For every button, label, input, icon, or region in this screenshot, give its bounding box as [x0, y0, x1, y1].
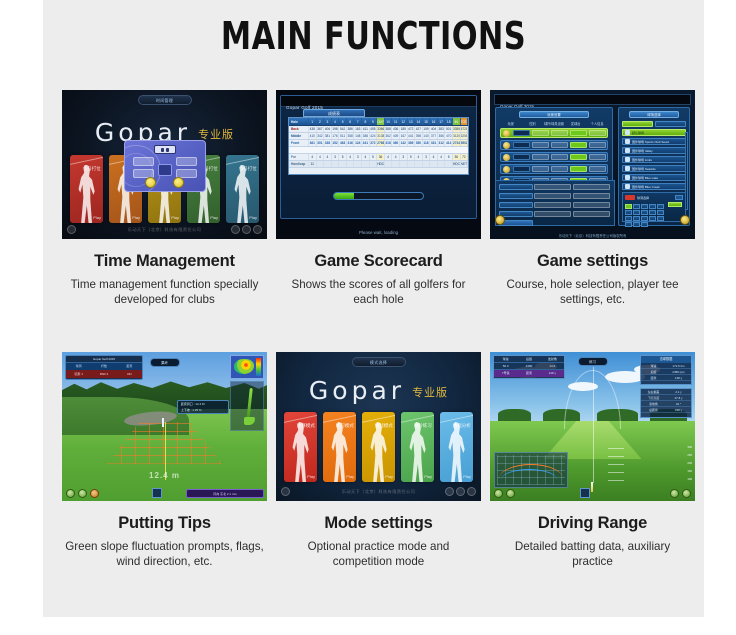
screenshot-game-scorecard: Gopar Golf 2015 成绩表 Hole 1 2 3 4 — [276, 90, 481, 239]
club-cell[interactable] — [551, 142, 568, 148]
td: 167 — [400, 133, 408, 139]
subtab-domestic[interactable] — [622, 121, 653, 127]
gender-cell[interactable] — [532, 166, 549, 172]
td: 331 — [430, 140, 438, 146]
td: 414 — [445, 140, 453, 146]
info-cell[interactable] — [589, 130, 606, 136]
course-tab[interactable]: 球场选择 — [629, 111, 679, 118]
td — [400, 161, 408, 167]
settings-button-icon[interactable] — [670, 489, 679, 498]
col-player: 玩家 — [500, 121, 522, 126]
view-button-icon[interactable] — [494, 489, 503, 498]
hole-selection-panel: 球洞选择 — [622, 192, 686, 222]
data-value: 2480 rpm — [666, 369, 691, 374]
th: 3 — [324, 118, 332, 125]
golfer-silhouette-icon — [446, 422, 468, 482]
data-value: 158 y — [666, 407, 691, 412]
th: 12 — [400, 118, 408, 125]
player-name-cell — [513, 166, 530, 172]
player-tab[interactable]: 玩家设置 — [519, 111, 589, 118]
exit-button-icon[interactable] — [682, 489, 691, 498]
club-cell[interactable] — [551, 166, 568, 172]
data-value: 2.1 y — [666, 389, 691, 394]
player-name-cell — [513, 142, 530, 148]
td: 4 — [438, 154, 446, 160]
option-label — [499, 211, 533, 217]
heatmap-blob — [234, 359, 254, 374]
table-row: Par 4 4 4 3 5 4 3 4 5 36 — [289, 154, 468, 161]
td: 542 — [339, 126, 347, 132]
hole-button-1[interactable] — [625, 204, 632, 209]
th: 17 — [438, 118, 446, 125]
course-subtabs — [622, 121, 686, 127]
next-button-icon[interactable] — [680, 215, 690, 225]
td-in: HDCP — [453, 161, 461, 167]
th-in: IN — [453, 118, 461, 125]
panel-label: 5号打位 — [241, 166, 257, 172]
td: 410 — [309, 133, 317, 139]
info-cell[interactable] — [589, 166, 606, 172]
data-label: 飞行高度 — [641, 395, 666, 400]
mode-panel-practice[interactable]: 练习模式 Play — [323, 412, 356, 482]
hole-button-6[interactable] — [625, 210, 632, 215]
course-thumb-icon — [625, 184, 630, 189]
function-card-mode-settings[interactable]: 模式选择 Gopar专业版 比赛模式 Play — [276, 352, 481, 614]
window-titlebar: Gopar Golf 2015 — [494, 94, 691, 105]
hole-button-17[interactable] — [633, 222, 640, 227]
course-list-item[interactable]: 国外球场 Blue Creek — [622, 183, 686, 190]
course-list-item[interactable]: 国外球场 Sports Club Seoul — [622, 138, 686, 145]
td — [392, 161, 400, 167]
td: 4 — [324, 154, 332, 160]
data-value: 42 ° — [666, 401, 691, 406]
mode-chip-label: 果岭 — [151, 359, 179, 368]
panel-streak — [226, 156, 259, 166]
loading-text: Please wait, loading — [276, 230, 481, 235]
td: 4 — [385, 154, 393, 160]
table-row: Front 361 301 338 152 463 316 124 341 37… — [289, 140, 468, 147]
dialog-confirm-button[interactable] — [158, 164, 172, 176]
td: 470 — [445, 133, 453, 139]
td: 318 — [385, 140, 393, 146]
option-row — [499, 192, 611, 199]
td: 377 — [430, 133, 438, 139]
td: 159 — [423, 126, 431, 132]
replay-button-icon[interactable] — [506, 489, 515, 498]
th: 11 — [392, 118, 400, 125]
td: 124 — [354, 140, 362, 146]
golfer-silhouette-icon — [290, 422, 312, 482]
option-value[interactable] — [534, 211, 571, 217]
functions-grid: 时间管理 Gopar专业版 1号打位 Play — [62, 90, 685, 614]
td-total: 5502 — [461, 140, 469, 146]
club-cell[interactable] — [551, 130, 568, 136]
table-row: Back 438 367 406 198 542 386 163 411 455 — [289, 126, 468, 133]
option-value[interactable] — [573, 211, 610, 217]
green-heatmap — [230, 355, 264, 379]
hole-button-9[interactable] — [649, 210, 656, 215]
card-title: Game settings — [490, 252, 695, 271]
player-row[interactable] — [500, 140, 608, 150]
td: 386 — [347, 126, 355, 132]
option-row — [499, 219, 611, 226]
course-thumb-icon — [625, 175, 630, 180]
function-card-game-scorecard[interactable]: Gopar Golf 2015 成绩表 Hole 1 2 3 4 — [276, 90, 481, 352]
status-bar: 风向 东北 2.1 m/s — [186, 489, 264, 498]
hud-label: 杆数 — [91, 363, 116, 370]
hud-labels-row: 球速 后旋 发射角 — [494, 356, 564, 363]
hole-button-7[interactable] — [633, 210, 640, 215]
hole-button-15[interactable] — [657, 216, 664, 221]
player-name-cell — [513, 130, 530, 136]
info-cell[interactable] — [589, 154, 606, 160]
function-card-time-management[interactable]: 时间管理 Gopar专业版 1号打位 Play — [62, 90, 267, 352]
tee-cell[interactable] — [570, 130, 587, 136]
hud-label: 后旋 — [517, 356, 540, 362]
ladder-label: 250 — [687, 453, 692, 457]
td: 140 — [423, 133, 431, 139]
hud-label: 距离 — [117, 363, 142, 370]
course-selection-panel: 球场选择 默认球场 国外球场 Sports Club Seoul 国外球场 Va… — [618, 107, 690, 226]
td: 441 — [408, 133, 416, 139]
dialog-avatar-left-icon — [145, 177, 156, 188]
club-preview — [230, 381, 264, 431]
dialog-col-right — [176, 157, 197, 178]
panel-label: 挑战模式 — [375, 423, 393, 429]
td: 411 — [362, 126, 370, 132]
hole-button-5[interactable] — [657, 204, 664, 209]
data-label: 距离 — [641, 375, 666, 380]
back-button-icon[interactable] — [495, 215, 505, 225]
course-name: 默认球场 — [632, 131, 644, 135]
td: 455 — [370, 126, 378, 132]
option-value[interactable] — [534, 193, 571, 199]
player-row[interactable] — [500, 152, 608, 162]
col-gender: 性别 — [522, 121, 544, 126]
distance-readout: 12.4 m — [62, 471, 267, 480]
card-description: Shows the scores of all golfers for each… — [276, 278, 481, 307]
tee-cell[interactable] — [570, 166, 587, 172]
hud-value: 56.3 — [494, 363, 517, 369]
td: 356 — [438, 133, 446, 139]
option-label — [499, 193, 533, 199]
course-thumb-icon — [625, 148, 630, 153]
th: 7 — [354, 118, 362, 125]
panel-tag: Play — [210, 215, 218, 220]
td: 511 — [339, 133, 347, 139]
hole-button-3[interactable] — [641, 204, 648, 209]
td-in: 36 — [453, 154, 461, 160]
td: 372 — [370, 140, 378, 146]
subtab-overseas[interactable] — [655, 121, 686, 127]
option-value[interactable] — [573, 193, 610, 199]
screenshot-driving-range: 球速 后旋 发射角 56.3 2480 14.2 7号铁 距离 148 — [490, 352, 695, 501]
panel-streak — [401, 413, 434, 423]
avatar-icon — [503, 154, 510, 161]
td: 338 — [324, 140, 332, 146]
hole-button-18[interactable] — [641, 222, 648, 227]
hole-confirm-button[interactable] — [668, 202, 682, 207]
row-label: Back — [289, 126, 309, 132]
course-list-item[interactable]: 国外球场 Links — [622, 156, 686, 163]
function-card-putting-tips[interactable]: Gopar Golf 2015 球洞 杆数 距离 玩家 1 PAR 4 ON — [62, 352, 267, 614]
td: 5 — [339, 154, 347, 160]
hole-button-10[interactable] — [657, 210, 664, 215]
hole-button-11[interactable] — [625, 216, 632, 221]
td: 316 — [347, 140, 355, 146]
dialog-button-start[interactable] — [133, 157, 154, 166]
table-header-row: Hole 1 2 3 4 5 6 7 8 9 OUT — [289, 118, 468, 126]
hud-value: 14.2 — [541, 363, 564, 369]
time-management-dialog[interactable] — [124, 140, 206, 192]
th: 13 — [408, 118, 416, 125]
row-label: Par — [289, 154, 309, 160]
scorecard-window: Gopar Golf 2015 成绩表 Hole 1 2 3 4 — [280, 95, 477, 219]
data-label: 后旋 — [641, 369, 666, 374]
hud-label: 球洞 — [66, 363, 91, 370]
td-in: 2734 — [453, 140, 461, 146]
col-club: 球杆/球具设置 — [543, 121, 565, 126]
menu-button-icon[interactable] — [90, 489, 99, 498]
td: 4 — [309, 154, 317, 160]
heatmap-scale — [256, 358, 261, 376]
mode-chip: 练习 — [578, 357, 608, 366]
control-buttons-left — [494, 489, 515, 498]
td: 4 — [415, 154, 423, 160]
hole-button-2[interactable] — [633, 204, 640, 209]
course-thumb-icon — [625, 139, 630, 144]
hole-panel-toggle[interactable] — [675, 195, 683, 200]
hud-distance-label: 距离 — [517, 370, 540, 377]
th: 1 — [309, 118, 317, 125]
hud-label: 球速 — [494, 356, 517, 362]
option-row — [499, 183, 611, 190]
dialog-button-stop[interactable] — [176, 157, 197, 166]
info-slope: 上下坡 : 1.25 % — [178, 407, 228, 413]
panel-tag: Play — [93, 215, 101, 220]
card-description: Optional practice mode and competition m… — [276, 540, 481, 569]
option-label — [499, 202, 533, 208]
th: 9 — [370, 118, 378, 125]
course-name: 国外球场 Sports Club Seoul — [632, 140, 669, 144]
td — [438, 161, 446, 167]
gender-cell[interactable] — [532, 130, 549, 136]
hud-labels-row: 球洞 杆数 距离 — [66, 363, 142, 370]
dialog-avatar-right-icon — [173, 177, 184, 188]
screenshot-game-settings: Gopar Golf 2015 玩家设置 玩家 性别 球杆/球具设置 发球台 个… — [490, 90, 695, 239]
mode-panel-green[interactable]: 果岭练习 Play — [401, 412, 434, 482]
score-hud: Gopar Golf 2015 球洞 杆数 距离 玩家 1 PAR 4 ON — [65, 355, 143, 380]
hud-value: ON — [117, 370, 142, 378]
hole-button-13[interactable] — [641, 216, 648, 221]
td: 389 — [408, 140, 416, 146]
scorecard-tab[interactable]: 成绩表 — [303, 109, 365, 117]
td: 388 — [385, 126, 393, 132]
panel-title: 击球数据 — [641, 356, 691, 363]
topbar-chip: 时间管理 — [138, 95, 192, 105]
course-thumb-icon — [625, 157, 630, 162]
td — [324, 161, 332, 167]
hud-value: PAR 4 — [91, 370, 116, 378]
td: 3 — [354, 154, 362, 160]
course-list-item[interactable]: 国外球场 Seaside — [622, 165, 686, 172]
th: 4 — [332, 118, 340, 125]
course-thumb-icon — [625, 166, 630, 171]
window-titlebar: Gopar Golf 2015 — [281, 96, 476, 107]
row-label: Handicap — [289, 161, 309, 167]
panel-1[interactable]: 1号打位 Play — [70, 155, 103, 223]
td: 4 — [347, 154, 355, 160]
td: 438 — [309, 126, 317, 132]
loading-progress-bar — [333, 192, 424, 200]
td: 5 — [445, 154, 453, 160]
info-cell[interactable] — [589, 142, 606, 148]
panel-label: 1号打位 — [85, 166, 101, 172]
dialog-col-left — [133, 157, 154, 178]
td: 404 — [430, 126, 438, 132]
ladder-label: 300 — [687, 445, 692, 449]
course-list-item[interactable]: 国外球场 Blue Lake — [622, 174, 686, 181]
td: 409 — [392, 133, 400, 139]
tee-cell[interactable] — [570, 142, 587, 148]
option-value[interactable] — [534, 184, 571, 190]
panel-tag: Play — [171, 215, 179, 220]
content-panel: MAIN FUNCTIONS 时间管理 Gopar专业版 — [43, 0, 704, 617]
shot-hud: 球速 后旋 发射角 56.3 2480 14.2 7号铁 距离 148 — [493, 355, 565, 379]
td: 312 — [438, 140, 446, 146]
card-title: Mode settings — [276, 514, 481, 533]
td: 301 — [317, 140, 325, 146]
hole-button-4[interactable] — [649, 204, 656, 209]
golfer-silhouette-icon — [329, 422, 351, 482]
course-list-item[interactable]: 国外球场 Valley — [622, 147, 686, 154]
td: 358 — [347, 133, 355, 139]
td: 11 — [309, 161, 317, 167]
hole-button-8[interactable] — [641, 210, 648, 215]
td-out: HDCP — [377, 161, 385, 167]
golfer-silhouette-icon — [407, 422, 429, 482]
hole-button-16[interactable] — [625, 222, 632, 227]
data-row: 距离 148 y — [641, 375, 691, 381]
mode-panel-competition[interactable]: 比赛模式 Play — [284, 412, 317, 482]
td: 152 — [332, 140, 340, 146]
td: 361 — [309, 140, 317, 146]
trajectory-graph — [494, 452, 568, 488]
td: 118 — [423, 140, 431, 146]
card-title: Putting Tips — [62, 514, 267, 533]
course-list-item[interactable]: 默认球场 — [622, 129, 686, 136]
course-name: 国外球场 Valley — [632, 149, 653, 153]
hud-window-title: Gopar Golf 2015 — [66, 356, 142, 362]
data-label: 总距离 — [641, 407, 666, 412]
panel-tag: Play — [307, 474, 315, 479]
course-thumb-icon — [625, 130, 630, 135]
td-out: 3366 — [377, 126, 385, 132]
card-description: Detailed batting data, auxiliary practic… — [490, 540, 695, 569]
panel-label: 比赛模式 — [297, 423, 315, 429]
td-total: 6721 — [461, 126, 469, 132]
mode-panel-analysis[interactable]: 数据分析 Play — [440, 412, 473, 482]
td: 367 — [317, 126, 325, 132]
function-card-game-settings[interactable]: Gopar Golf 2015 玩家设置 玩家 性别 球杆/球具设置 发球台 个… — [490, 90, 695, 352]
view-button-icon[interactable] — [66, 489, 75, 498]
distance-info-box: 距离洞口 : 12.4 M 上下坡 : 1.25 % — [177, 400, 229, 414]
option-value[interactable] — [534, 202, 571, 208]
td: 362 — [385, 133, 393, 139]
club-cell[interactable] — [551, 154, 568, 160]
option-value[interactable] — [573, 202, 610, 208]
td: 350 — [415, 140, 423, 146]
hud-label: 发射角 — [541, 356, 564, 362]
td — [415, 161, 423, 167]
td: 163 — [354, 126, 362, 132]
zoom-button-icon[interactable] — [78, 489, 87, 498]
option-value[interactable] — [573, 184, 610, 190]
tee-cell[interactable] — [570, 154, 587, 160]
dialog-buttons — [133, 157, 197, 178]
panel-5[interactable]: 5号打位 Play — [226, 155, 259, 223]
page-title: MAIN FUNCTIONS — [109, 14, 638, 58]
hole-button-12[interactable] — [633, 216, 640, 221]
function-card-driving-range[interactable]: 球速 后旋 发射角 56.3 2480 14.2 7号铁 距离 148 — [490, 352, 695, 614]
td: 342 — [317, 133, 325, 139]
gender-cell[interactable] — [532, 154, 549, 160]
panel-tag: Play — [132, 215, 140, 220]
player-row[interactable] — [500, 128, 608, 138]
control-buttons — [66, 489, 99, 498]
td: 388 — [362, 133, 370, 139]
th: 8 — [362, 118, 370, 125]
hole-marker-icon — [625, 195, 635, 200]
row-label: Middle — [289, 133, 309, 139]
td — [339, 161, 347, 167]
td — [408, 161, 416, 167]
hud-values-row: 56.3 2480 14.2 — [494, 363, 564, 370]
td — [317, 161, 325, 167]
td-total: NET — [461, 161, 469, 167]
hole-button-14[interactable] — [649, 216, 656, 221]
panel-tag: Play — [346, 474, 354, 479]
td: 5 — [370, 154, 378, 160]
player-row[interactable] — [500, 164, 608, 174]
panel-tag: Play — [463, 474, 471, 479]
card-title: Game Scorecard — [276, 252, 481, 271]
panel-streak — [440, 413, 473, 423]
td: 381 — [324, 133, 332, 139]
mode-panel-challenge[interactable]: 挑战模式 Play — [362, 412, 395, 482]
td-out: 3138 — [377, 133, 385, 139]
card-description: Course, hole selection, player tee setti… — [490, 278, 695, 307]
shot-detail-panel: 左右偏差 2.1 y 飞行高度 27.8 y 落地角 42 ° 总距离 — [640, 388, 692, 418]
td — [430, 161, 438, 167]
th: 18 — [445, 118, 453, 125]
club-select-button[interactable] — [152, 488, 162, 498]
club-select-button[interactable] — [580, 488, 590, 498]
td: 341 — [362, 140, 370, 146]
panel-label: 练习模式 — [336, 423, 354, 429]
hole-number-pad — [623, 202, 666, 229]
td: 427 — [415, 126, 423, 132]
td — [423, 161, 431, 167]
panel-tag: Play — [424, 474, 432, 479]
hud-title-row: Gopar Golf 2015 — [66, 356, 142, 363]
card-title: Driving Range — [490, 514, 695, 533]
gender-cell[interactable] — [532, 142, 549, 148]
brand-cn: 专业版 — [198, 128, 234, 141]
td: 185 — [400, 126, 408, 132]
td: 4 — [362, 154, 370, 160]
th-out: OUT — [377, 118, 385, 125]
